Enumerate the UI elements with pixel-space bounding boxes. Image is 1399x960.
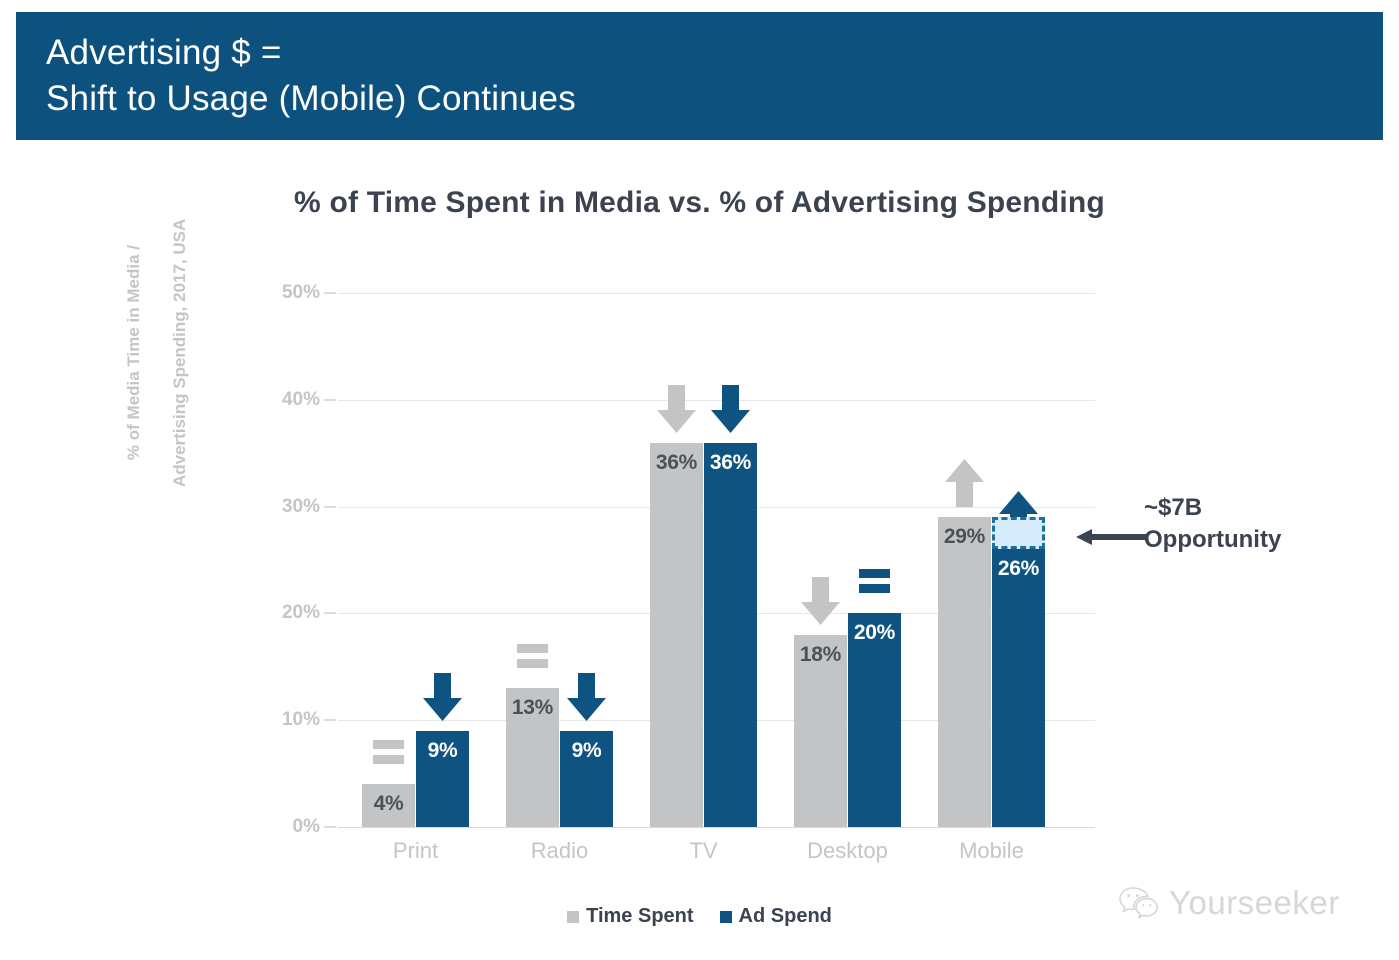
y-axis-tick-mark — [324, 719, 336, 721]
bar-value-label: 26% — [992, 557, 1045, 581]
bar-desktop-ad-spend[interactable]: 20% — [848, 613, 901, 827]
y-axis-tick-mark — [324, 506, 336, 508]
wechat-icon — [1119, 886, 1159, 920]
legend-swatch — [720, 911, 732, 923]
y-axis-title-line-2: Advertising Spending, 2017, USA — [170, 219, 189, 487]
y-axis-title: % of Media Time in Media / Advertising S… — [99, 92, 214, 632]
bar-tv-ad-spend[interactable]: 36% — [704, 443, 757, 827]
indicator-arrow-down-icon — [416, 669, 469, 725]
y-axis-tick-mark — [324, 292, 336, 294]
y-axis-title-wrapper: % of Media Time in Media / Advertising S… — [215, 340, 216, 341]
legend-item-time-spent[interactable]: Time Spent — [567, 905, 693, 928]
opportunity-label: Opportunity — [1144, 526, 1281, 553]
bar-tv-time-spent[interactable]: 36% — [650, 443, 703, 827]
bar-radio-ad-spend[interactable]: 9% — [560, 731, 613, 827]
y-axis-tick-mark — [324, 399, 336, 401]
bar-group-desktop: 18%20%Desktop — [794, 293, 901, 827]
bar-group-mobile: 29%26%Mobile — [938, 293, 1045, 827]
bar-mobile-ad-spend[interactable]: 26% — [992, 549, 1045, 827]
y-axis-title-line-1: % of Media Time in Media / — [124, 245, 143, 460]
x-axis-category-label-mobile: Mobile — [938, 838, 1045, 864]
legend-swatch — [567, 911, 579, 923]
indicator-arrow-down-icon — [704, 381, 757, 437]
y-axis-tick-label: 50% — [254, 282, 320, 304]
watermark: Yourseeker — [1119, 884, 1340, 922]
bar-group-tv: 36%36%TV — [650, 293, 757, 827]
indicator-arrow-down-icon — [794, 573, 847, 629]
legend-label: Time Spent — [586, 905, 693, 928]
bar-group-print: 4%9%Print — [362, 293, 469, 827]
header-banner: Advertising $ = Shift to Usage (Mobile) … — [16, 12, 1383, 140]
bar-print-time-spent[interactable]: 4% — [362, 784, 415, 827]
header-title-line-2: Shift to Usage (Mobile) Continues — [46, 76, 1383, 122]
y-axis-tick-label: 0% — [254, 816, 320, 838]
watermark-label: Yourseeker — [1169, 884, 1340, 922]
bar-print-ad-spend[interactable]: 9% — [416, 731, 469, 827]
legend-item-ad-spend[interactable]: Ad Spend — [720, 905, 832, 928]
y-axis-tick-mark — [324, 612, 336, 614]
bar-value-label: 36% — [704, 451, 757, 475]
x-axis-category-label-desktop: Desktop — [794, 838, 901, 864]
x-axis-baseline — [338, 827, 1095, 828]
opportunity-callout-arrow-icon — [1076, 529, 1146, 545]
indicator-equals-icon — [848, 551, 901, 607]
bar-group-radio: 13%9%Radio — [506, 293, 613, 827]
bar-value-label: 18% — [794, 643, 847, 667]
indicator-arrow-down-icon — [650, 381, 703, 437]
plot-area: 4%9%Print13%9%Radio36%36%TV18%20%Desktop… — [338, 293, 1095, 827]
bar-value-label: 9% — [560, 739, 613, 763]
indicator-arrow-up-icon — [938, 455, 991, 511]
y-axis-tick-label: 30% — [254, 496, 320, 518]
opportunity-amount: ~$7B — [1144, 492, 1384, 524]
opportunity-box[interactable] — [992, 517, 1045, 549]
bar-value-label: 29% — [938, 525, 991, 549]
bar-value-label: 13% — [506, 696, 559, 720]
x-axis-category-label-tv: TV — [650, 838, 757, 864]
bar-value-label: 20% — [848, 621, 901, 645]
bar-desktop-time-spent[interactable]: 18% — [794, 635, 847, 827]
indicator-equals-icon — [506, 626, 559, 682]
indicator-equals-icon — [362, 722, 415, 778]
y-axis-tick-mark — [324, 826, 336, 828]
bar-mobile-time-spent[interactable]: 29% — [938, 517, 991, 827]
legend-label: Ad Spend — [739, 905, 832, 928]
bar-value-label: 36% — [650, 451, 703, 475]
bar-value-label: 4% — [362, 792, 415, 816]
y-axis-tick-label: 20% — [254, 602, 320, 624]
indicator-arrow-down-icon — [560, 669, 613, 725]
y-axis-tick-label: 40% — [254, 389, 320, 411]
opportunity-annotation: ~$7B Opportunity — [1144, 492, 1384, 556]
bar-value-label: 9% — [416, 739, 469, 763]
header-title-line-1: Advertising $ = — [46, 30, 1383, 76]
x-axis-category-label-print: Print — [362, 838, 469, 864]
x-axis-category-label-radio: Radio — [506, 838, 613, 864]
y-axis-tick-labels: 50%40%30%20%10%0% — [254, 293, 320, 827]
y-axis-tick-label: 10% — [254, 709, 320, 731]
bar-radio-time-spent[interactable]: 13% — [506, 688, 559, 827]
